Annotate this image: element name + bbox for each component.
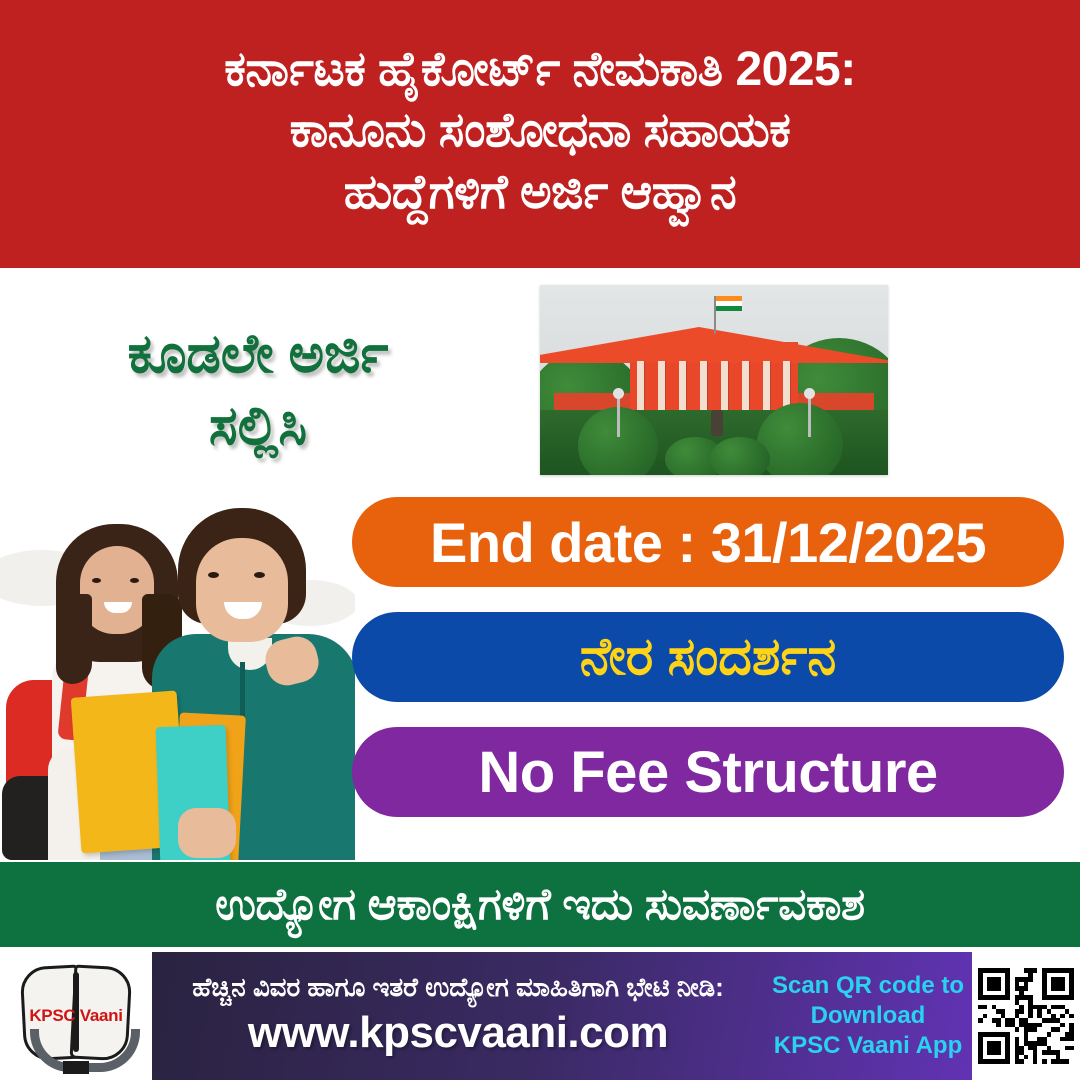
book-stand-foot xyxy=(63,1061,89,1074)
eye xyxy=(130,578,139,583)
male-student-hand-holding-books xyxy=(178,808,236,858)
golden-opportunity-banner: ಉದ್ಯೋಗ ಆಕಾಂಕ್ಷಿಗಳಿಗೆ ಇದು ಸುವರ್ಣಾವಕಾಶ xyxy=(0,862,1080,947)
karnataka-high-court-image xyxy=(540,285,888,475)
indian-flag-icon xyxy=(716,296,742,311)
no-fee-banner: No Fee Structure xyxy=(352,727,1064,817)
apply-now-callout: ಕೂಡಲೇ ಅರ್ಜಿ ಸಲ್ಲಿಸಿ xyxy=(28,318,488,463)
qr-code-container[interactable] xyxy=(972,952,1080,1080)
male-student-face xyxy=(196,538,288,642)
qr-instruction-block: Scan QR code to Download KPSC Vaani App xyxy=(764,952,972,1080)
header-title-line-2: ಕಾನೂನು ಸಂಶೋಧನಾ ಸಹಾಯಕ xyxy=(290,100,791,161)
eye xyxy=(208,572,219,578)
eye xyxy=(92,578,101,583)
apply-now-line-1: ಕೂಡಲೇ ಅರ್ಜಿ xyxy=(28,318,488,390)
end-date-banner: End date : 31/12/2025 xyxy=(352,497,1064,587)
qr-code-icon[interactable] xyxy=(978,968,1074,1064)
students-image xyxy=(0,498,355,860)
poster-header: ಕರ್ನಾಟಕ ಹೈಕೋರ್ಟ್ ನೇಮಕಾತಿ 2025: ಕಾನೂನು ಸಂ… xyxy=(0,0,1080,268)
golden-opportunity-label: ಉದ್ಯೋಗ ಆಕಾಂಕ್ಷಿಗಳಿಗೆ ಇದು ಸುವರ್ಣಾವಕಾಶ xyxy=(215,880,865,930)
kpsc-vaani-logo: KPSC Vaani xyxy=(0,952,152,1080)
direct-interview-banner: ನೇರ ಸಂದರ್ಶನ xyxy=(352,612,1064,702)
header-title-line-1: ಕರ್ನಾಟಕ ಹೈಕೋರ್ಟ್ ನೇಮಕಾತಿ 2025: xyxy=(224,39,855,100)
open-book-icon: KPSC Vaani xyxy=(14,958,138,1074)
tree-icon xyxy=(757,403,843,475)
footer-visit-label: ಹೆಚ್ಚಿನ ವಿವರ ಹಾಗೂ ಇತರೆ ಉದ್ಯೋಗ ಮಾಹಿತಿಗಾಗಿ… xyxy=(192,972,724,1004)
website-url[interactable]: www.kpscvaani.com xyxy=(248,1008,668,1058)
footer-bar: ಹೆಚ್ಚಿನ ವಿವರ ಹಾಗೂ ಇತರೆ ಉದ್ಯೋಗ ಮಾಹಿತಿಗಾಗಿ… xyxy=(152,952,1080,1080)
poster-footer: KPSC Vaani ಹೆಚ್ಚಿನ ವಿವರ ಹಾಗೂ ಇತರೆ ಉದ್ಯೋಗ… xyxy=(0,952,1080,1080)
direct-interview-label: ನೇರ ಸಂದರ್ಶನ xyxy=(580,627,837,688)
female-student-hair-front xyxy=(56,594,92,684)
qr-instruction-line-1: Scan QR code to xyxy=(772,971,964,1001)
no-fee-label: No Fee Structure xyxy=(478,739,937,806)
footer-contact-block: ಹೆಚ್ಚಿನ ವಿವರ ಹಾಗೂ ಇತರೆ ಉದ್ಯೋಗ ಮಾಹಿತಿಗಾಗಿ… xyxy=(152,952,764,1080)
header-title-line-3: ಹುದ್ದೆಗಳಿಗೆ ಅರ್ಜಿ ಆಹ್ವಾನ xyxy=(344,162,736,223)
end-date-label: End date : 31/12/2025 xyxy=(430,510,986,575)
qr-instruction-line-3: KPSC Vaani App xyxy=(774,1031,962,1061)
logo-text: KPSC Vaani xyxy=(14,1006,138,1026)
equestrian-statue xyxy=(711,410,723,436)
apply-now-line-2: ಸಲ್ಲಿಸಿ xyxy=(28,390,488,462)
eye xyxy=(254,572,265,578)
recruitment-poster: ಕರ್ನಾಟಕ ಹೈಕೋರ್ಟ್ ನೇಮಕಾತಿ 2025: ಕಾನೂನು ಸಂ… xyxy=(0,0,1080,1080)
qr-instruction-line-2: Download xyxy=(811,1001,926,1031)
male-student-arm xyxy=(274,674,352,860)
street-lamp-icon xyxy=(808,395,811,437)
street-lamp-icon xyxy=(617,395,620,437)
hedge-icon xyxy=(710,437,770,475)
